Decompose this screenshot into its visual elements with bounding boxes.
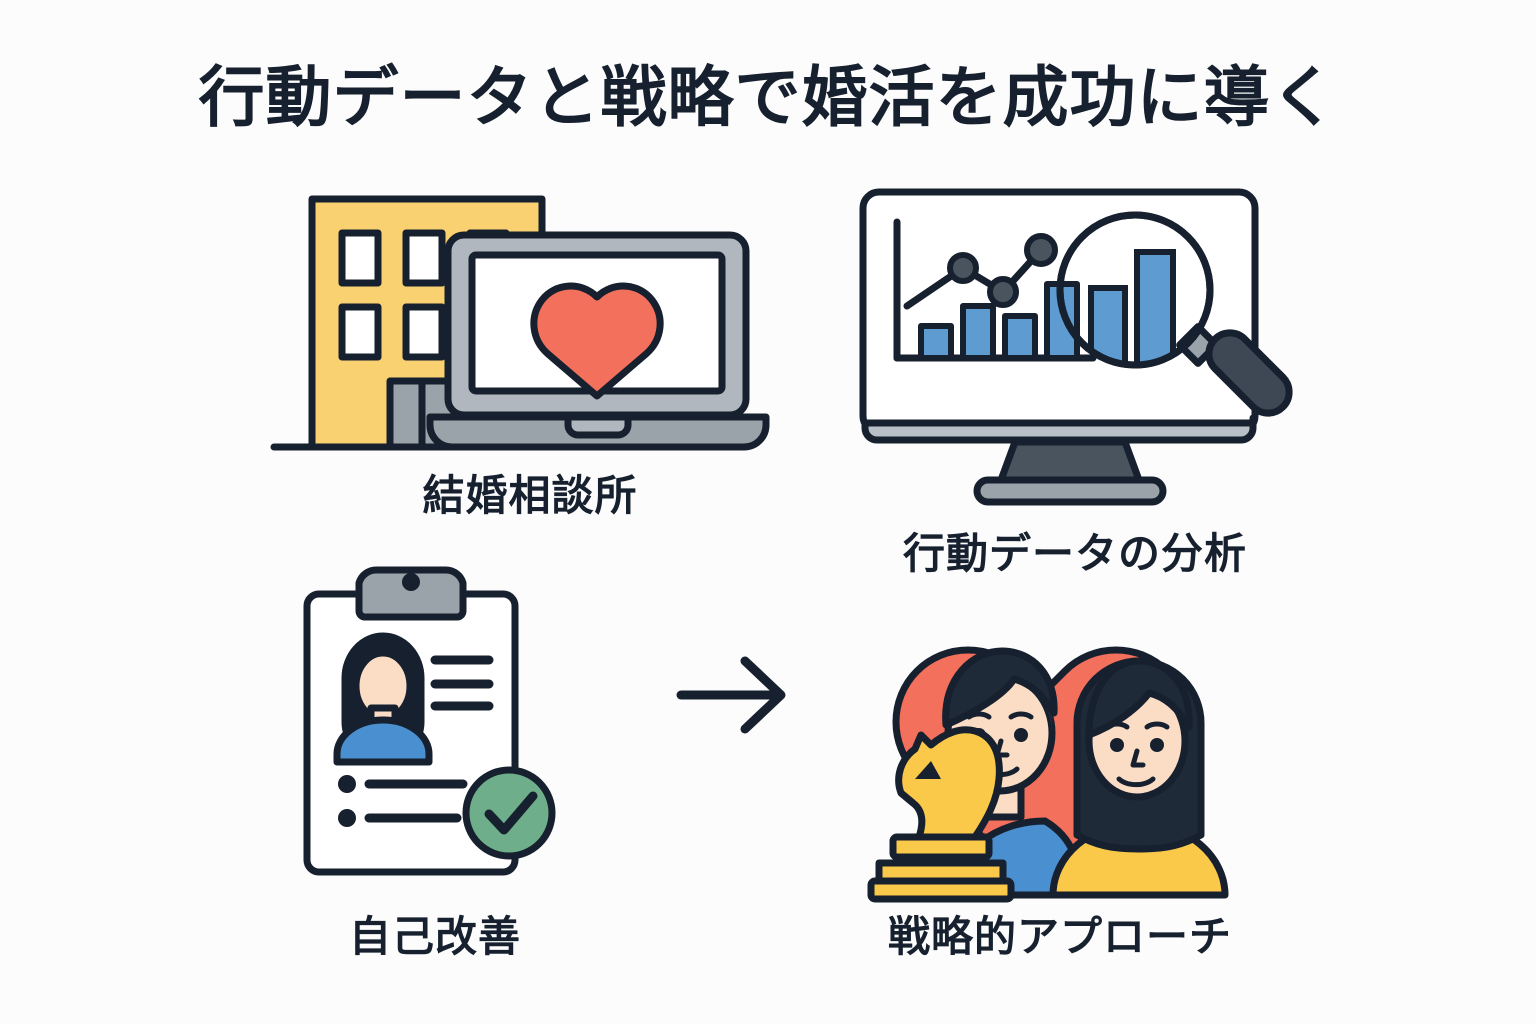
- clipboard-profile-check-illustration: [285, 568, 585, 893]
- profile-avatar: [337, 636, 429, 762]
- knight-foot: [871, 881, 1011, 899]
- data-point: [990, 279, 1016, 305]
- knight-head: [899, 730, 1000, 837]
- panel-agency: [270, 185, 790, 455]
- caption-self: 自己改善: [285, 903, 585, 964]
- laptop: [430, 235, 766, 447]
- panel-analysis: [845, 180, 1305, 510]
- bullet-dot: [338, 809, 356, 827]
- caption-couple: 戦略的アプローチ: [825, 903, 1295, 964]
- woman-eye: [1150, 738, 1164, 752]
- chess-knight: [871, 730, 1011, 899]
- chart-bar: [1005, 316, 1035, 358]
- chart-bar: [963, 306, 993, 358]
- data-point: [950, 255, 976, 281]
- page-title: 行動データと戦略で婚活を成功に導く: [0, 44, 1536, 140]
- building-laptop-heart-illustration: [270, 185, 790, 455]
- arrow-right-icon: [665, 645, 805, 745]
- monitor-bezel: [865, 418, 1253, 440]
- monitor-stand-neck: [1001, 442, 1139, 480]
- check-circle: [466, 770, 552, 856]
- man-eye: [1014, 728, 1028, 742]
- couple-heart-chess-knight-illustration: [845, 605, 1240, 900]
- laptop-trackpad-notch: [568, 417, 628, 435]
- data-point: [1027, 236, 1055, 264]
- panel-couple: [845, 605, 1240, 895]
- monitor-stand-base: [977, 480, 1163, 502]
- building-window: [406, 307, 442, 357]
- building-window: [406, 233, 442, 283]
- clip-hole: [402, 573, 420, 591]
- magnified-bar: [1137, 252, 1173, 366]
- knight-collar: [893, 837, 989, 857]
- arrow-container: [665, 645, 805, 745]
- chart-bar: [921, 326, 951, 358]
- caption-agency: 結婚相談所: [270, 462, 790, 523]
- bullet-dot: [338, 775, 356, 793]
- infographic-canvas: 行動データと戦略で婚活を成功に導く: [0, 0, 1536, 1024]
- monitor-chart-magnifier-illustration: [845, 180, 1305, 515]
- building-window: [342, 233, 378, 283]
- caption-analysis: 行動データの分析: [835, 520, 1315, 581]
- green-check: [466, 770, 552, 856]
- avatar-shirt: [337, 720, 429, 762]
- building-window: [342, 307, 378, 357]
- woman-eye: [1110, 738, 1124, 752]
- panel-self: [285, 568, 585, 888]
